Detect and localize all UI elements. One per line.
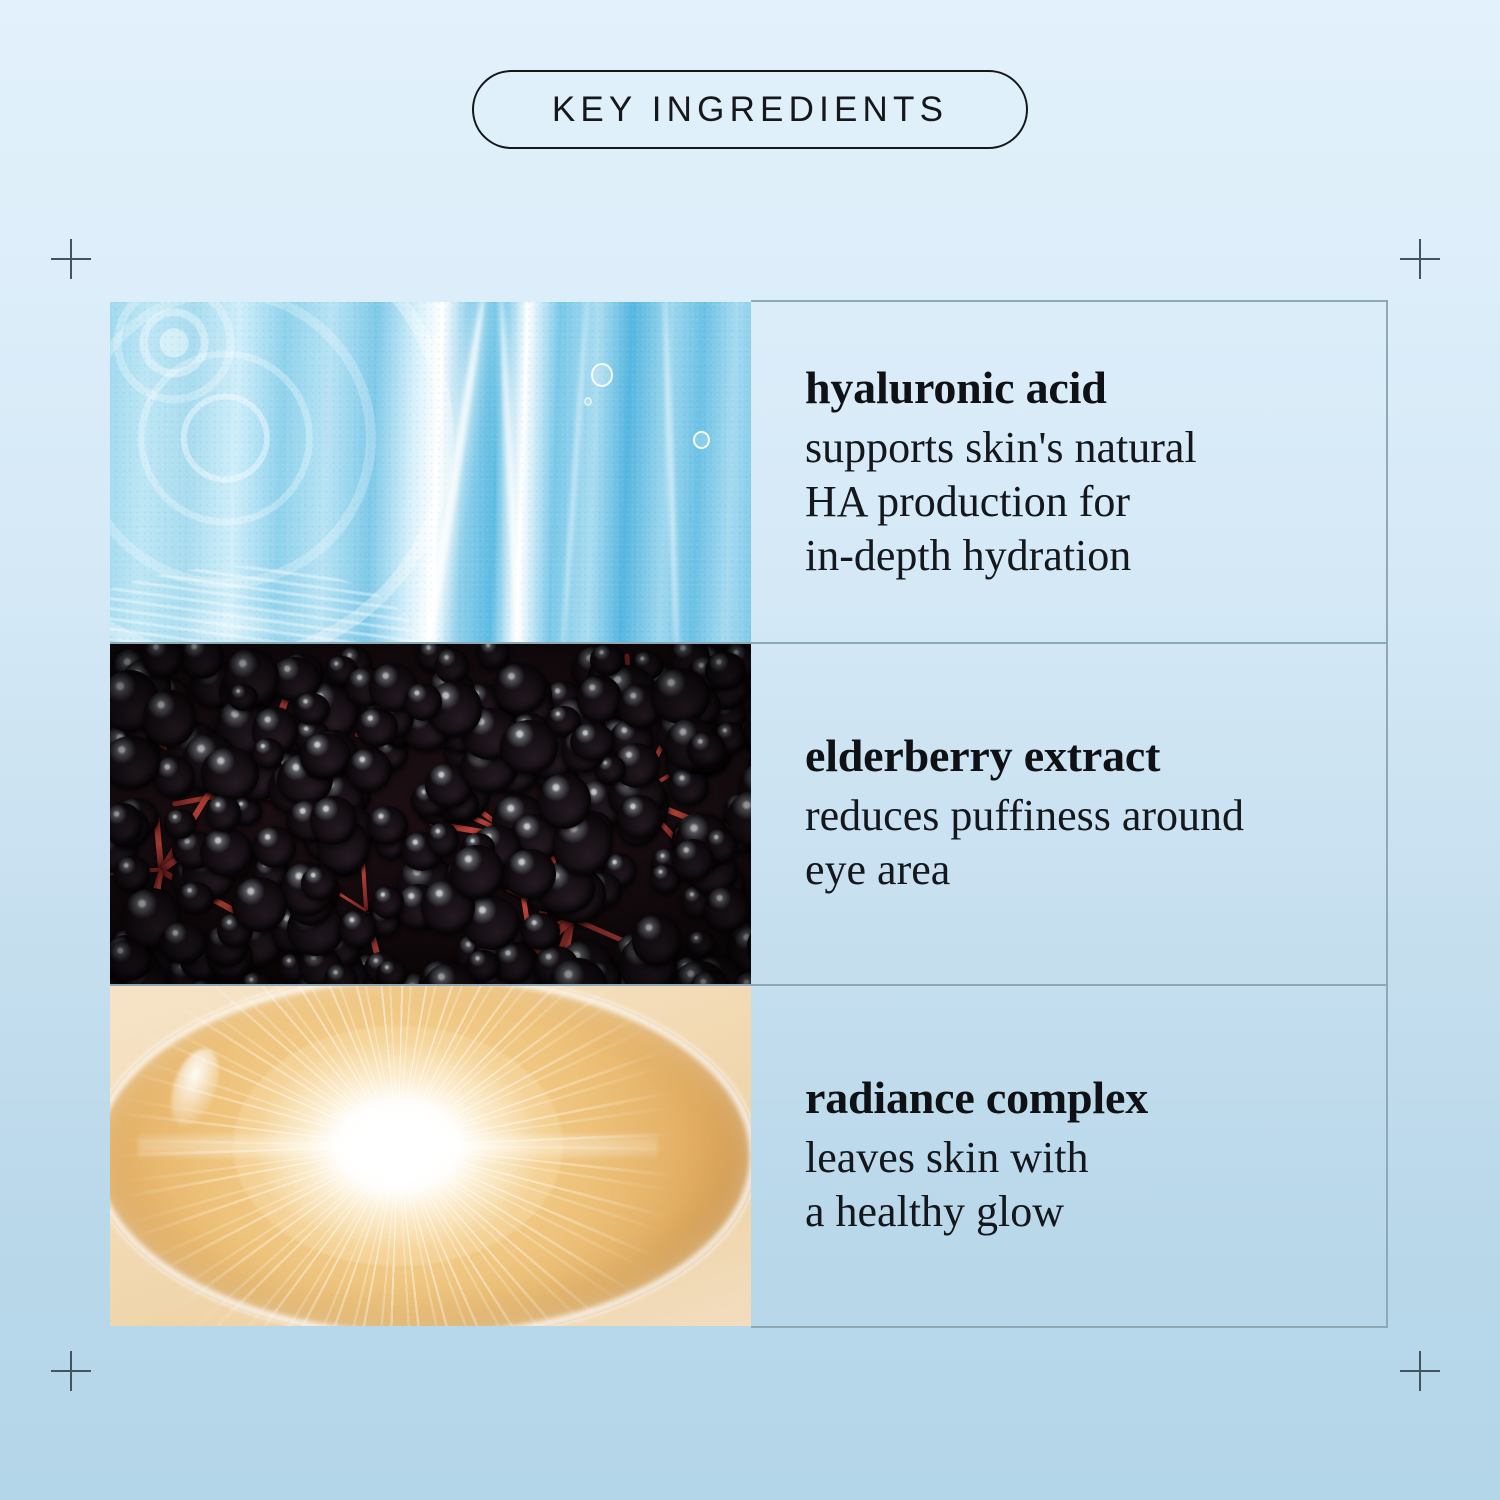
ingredient-name: elderberry extract bbox=[805, 731, 1362, 781]
water-ripple-photo bbox=[110, 302, 751, 642]
starburst-core bbox=[233, 1026, 563, 1266]
ingredient-row: hyaluronic acid supports skin's natural … bbox=[110, 302, 1388, 642]
plus-icon bbox=[1400, 239, 1440, 279]
plus-icon bbox=[51, 1351, 91, 1391]
ingredient-text-block: elderberry extract reduces puffiness aro… bbox=[751, 644, 1388, 984]
water-bubble-icon bbox=[591, 363, 613, 387]
ingredient-description: supports skin's natural HA production fo… bbox=[805, 421, 1362, 583]
ingredient-text-block: hyaluronic acid supports skin's natural … bbox=[751, 300, 1388, 642]
photo-vignette bbox=[110, 644, 751, 984]
ingredient-name: hyaluronic acid bbox=[805, 363, 1362, 413]
elderberry-cluster-photo bbox=[110, 644, 751, 984]
plus-icon bbox=[51, 239, 91, 279]
plus-icon bbox=[1400, 1351, 1440, 1391]
ingredient-grid: hyaluronic acid supports skin's natural … bbox=[110, 302, 1388, 1326]
ingredient-name: radiance complex bbox=[805, 1073, 1362, 1123]
golden-droplet-burst-photo bbox=[110, 986, 751, 1326]
page-title: KEY INGREDIENTS bbox=[552, 90, 948, 130]
ingredient-row: elderberry extract reduces puffiness aro… bbox=[110, 642, 1388, 984]
ingredient-description: reduces puffiness around eye area bbox=[805, 789, 1362, 897]
ingredient-row: radiance complex leaves skin with a heal… bbox=[110, 984, 1388, 1326]
ingredient-text-block: radiance complex leaves skin with a heal… bbox=[751, 986, 1388, 1328]
key-ingredients-badge: KEY INGREDIENTS bbox=[472, 70, 1028, 149]
ingredient-description: leaves skin with a healthy glow bbox=[805, 1131, 1362, 1239]
